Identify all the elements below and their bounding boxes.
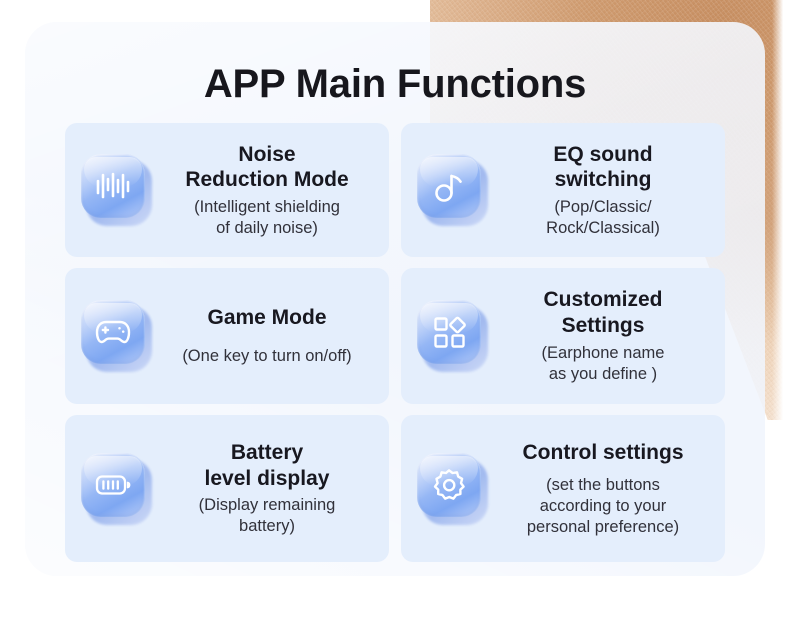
feature-card-noise-reduction[interactable]: Noise Reduction Mode (Intelligent shield… <box>65 123 389 257</box>
feature-card-game-mode[interactable]: Game Mode (One key to turn on/off) <box>65 268 389 404</box>
feature-subtitle: (Earphone name as you define ) <box>495 343 711 385</box>
icon-tile <box>81 300 153 372</box>
icon-tile <box>417 300 489 372</box>
feature-subtitle: (One key to turn on/off) <box>159 346 375 367</box>
feature-text: Customized Settings (Earphone name as yo… <box>495 287 715 385</box>
feature-text: Control settings (set the buttons accord… <box>495 440 715 538</box>
audio-waveform-icon <box>81 154 145 218</box>
features-panel: APP Main Functions <box>25 22 765 576</box>
icon-tile <box>81 453 153 525</box>
icon-tile <box>417 154 489 226</box>
feature-card-control-settings[interactable]: Control settings (set the buttons accord… <box>401 415 725 562</box>
feature-subtitle: (Pop/Classic/ Rock/Classical) <box>495 197 711 239</box>
feature-text: Battery level display (Display remaining… <box>159 440 379 537</box>
feature-text: EQ sound switching (Pop/Classic/ Rock/Cl… <box>495 142 715 239</box>
feature-subtitle: (set the buttons according to your perso… <box>495 475 711 537</box>
music-note-icon <box>417 154 481 218</box>
feature-subtitle: (Intelligent shielding of daily noise) <box>159 197 375 239</box>
promo-banner: APP Main Functions <box>0 0 790 618</box>
feature-title: Noise Reduction Mode <box>159 142 375 193</box>
battery-icon <box>81 453 145 517</box>
gamepad-icon <box>81 300 145 364</box>
gear-settings-icon <box>417 453 481 517</box>
features-grid: Noise Reduction Mode (Intelligent shield… <box>65 123 725 562</box>
feature-subtitle: (Display remaining battery) <box>159 495 375 537</box>
feature-card-customized-settings[interactable]: Customized Settings (Earphone name as yo… <box>401 268 725 404</box>
feature-title: Game Mode <box>159 305 375 331</box>
feature-title: Control settings <box>495 440 711 466</box>
feature-text: Game Mode (One key to turn on/off) <box>159 305 379 367</box>
skin-photo-edge-fade <box>772 0 790 420</box>
feature-card-eq-sound[interactable]: EQ sound switching (Pop/Classic/ Rock/Cl… <box>401 123 725 257</box>
app-grid-icon <box>417 300 481 364</box>
icon-tile <box>417 453 489 525</box>
feature-title: EQ sound switching <box>495 142 711 193</box>
feature-title: Battery level display <box>159 440 375 491</box>
feature-title: Customized Settings <box>495 287 711 338</box>
feature-text: Noise Reduction Mode (Intelligent shield… <box>159 142 379 239</box>
icon-tile <box>81 154 153 226</box>
feature-card-battery-level[interactable]: Battery level display (Display remaining… <box>65 415 389 562</box>
page-title: APP Main Functions <box>25 62 765 107</box>
